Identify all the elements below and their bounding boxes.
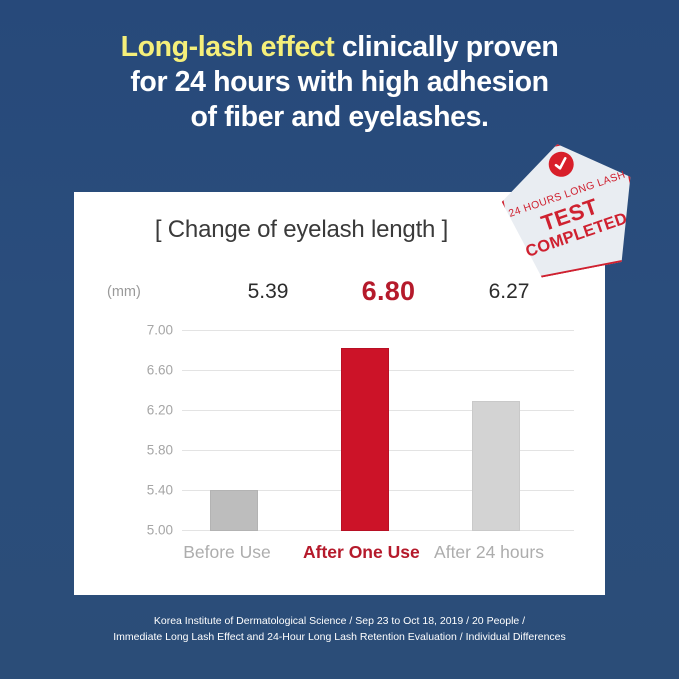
headline-line-1-rest: clinically proven <box>334 31 558 63</box>
plot-area: 7.00 6.60 6.20 5.80 5.40 5.00 <box>182 330 574 531</box>
y-tick-label-3: 5.80 <box>147 443 173 458</box>
headline-line-1: Long-lash effect clinically proven <box>0 30 679 65</box>
y-tick-label-2: 6.20 <box>147 403 173 418</box>
y-tick-label-4: 5.40 <box>147 483 173 498</box>
headline-line-3: of fiber and eyelashes. <box>0 100 679 135</box>
promo-infographic: Long-lash effect clinically proven for 2… <box>0 0 679 679</box>
test-completed-stamp: 24 HOURS LONG LASH TEST COMPLETED <box>493 132 646 283</box>
bar-after-one-use <box>341 348 389 531</box>
x-axis-label-2: After 24 hours <box>434 542 544 563</box>
headline-accent: Long-lash effect <box>121 31 335 63</box>
y-tick-label-1: 6.60 <box>147 363 173 378</box>
axis-unit-label: (mm) <box>107 284 141 300</box>
x-axis-label-0: Before Use <box>172 542 282 563</box>
x-axis-label-1: After One Use <box>303 542 413 563</box>
y-tick-label-0: 7.00 <box>147 323 173 338</box>
bar-value-label-0: 5.39 <box>233 280 303 304</box>
bar-before-use <box>210 490 258 531</box>
page-title: Long-lash effect clinically proven for 2… <box>0 30 679 135</box>
footnote-line-1: Korea Institute of Dermatological Scienc… <box>0 613 679 629</box>
bar-value-label-2: 6.27 <box>474 280 544 304</box>
chart-title: [ Change of eyelash length ] <box>74 216 529 244</box>
headline-line-2: for 24 hours with high adhesion <box>0 65 679 100</box>
y-tick-label-5: 5.00 <box>147 523 173 538</box>
footnote-line-2: Immediate Long Lash Effect and 24-Hour L… <box>0 629 679 645</box>
bar-after-24-hours <box>472 401 520 531</box>
gridline: 7.00 <box>182 330 574 331</box>
bar-value-label-1: 6.80 <box>340 276 437 307</box>
footnote: Korea Institute of Dermatological Scienc… <box>0 613 679 645</box>
